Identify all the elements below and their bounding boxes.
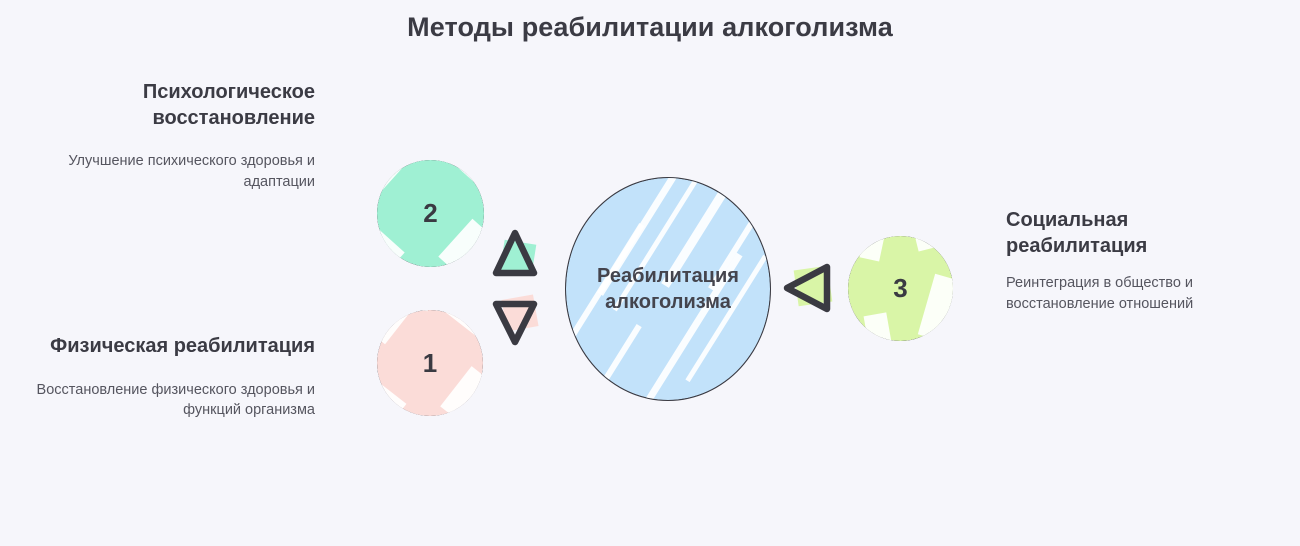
arrow-down-icon: [492, 297, 538, 347]
diagram-canvas: Методы реабилитации алкоголизма Психолог…: [0, 0, 1300, 546]
heading-social: Социальная реабилитация: [1006, 208, 1256, 259]
node-3-social[interactable]: 3: [848, 236, 953, 341]
arrow-up-triangle[interactable]: [492, 228, 538, 278]
arrow-left-icon: [782, 258, 834, 318]
arrow-up-icon: [492, 228, 538, 278]
node-3-number: 3: [893, 273, 907, 304]
node-2-psychological[interactable]: 2: [377, 160, 484, 267]
arrow-left-triangle[interactable]: [782, 258, 834, 318]
heading-physical: Физическая реабилитация: [20, 334, 315, 360]
node-1-number: 1: [423, 348, 437, 379]
label-block-social: Социальная реабилитация Реинтеграция в о…: [1006, 208, 1256, 314]
label-block-psychological: Психологическое восстановление Улучшение…: [20, 80, 315, 192]
node-1-physical[interactable]: 1: [377, 310, 483, 416]
center-node-label: Реабилитация алкоголизма: [572, 263, 764, 315]
page-title: Методы реабилитации алкоголизма: [0, 12, 1300, 43]
body-physical: Восстановление физического здоровья и фу…: [20, 380, 315, 421]
heading-psychological: Психологическое восстановление: [20, 80, 315, 131]
arrow-down-triangle[interactable]: [492, 297, 538, 347]
center-node-rehabilitation[interactable]: Реабилитация алкоголизма: [565, 177, 771, 401]
label-block-physical: Физическая реабилитация Восстановление ф…: [20, 334, 315, 421]
body-social: Реинтеграция в общество и восстановление…: [1006, 273, 1256, 314]
node-2-number: 2: [423, 198, 437, 229]
body-psychological: Улучшение психического здоровья и адапта…: [20, 151, 315, 192]
